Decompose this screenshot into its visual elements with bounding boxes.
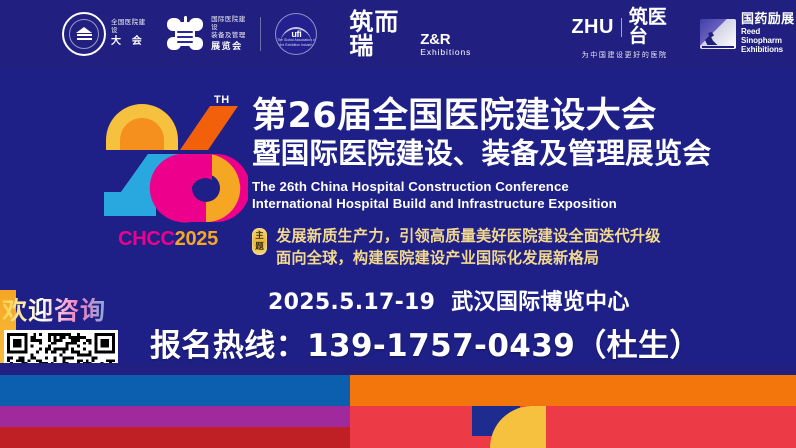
event-date: 2025.5.17-19 — [268, 290, 435, 315]
zr-chinese-name: 筑而瑞 — [349, 10, 415, 58]
band-orange — [350, 375, 796, 406]
event-venue: 武汉国际博览中心 — [451, 290, 629, 315]
logo-national-conference: 全国医院建设 大 会 — [62, 12, 146, 56]
band-blue — [0, 375, 350, 406]
logo-national-line1: 全国医院建设 — [111, 19, 146, 35]
title-english-line1: The 26th China Hospital Construction Con… — [252, 178, 712, 195]
reed-chinese-name: 国药励展 — [741, 13, 796, 28]
chcc-brand-year: 2025 — [175, 228, 218, 250]
theme-block: 主题 发展新质生产力，引领高质量美好医院建设全面迭代升级 面向全球，构建医院建设… — [252, 226, 661, 269]
zr-en-main: Z&R — [420, 32, 471, 48]
chcc-anniversary-logo: TH CHCC2025 — [88, 88, 248, 263]
zr-en-sub: Exhibitions — [420, 48, 471, 57]
ufi-circle-icon: ufi The Global Association of the Exhibi… — [275, 13, 317, 55]
header-logo-bar: 全国医院建设 大 会 国际医院建设 装备及管理 展览会 ufi — [0, 0, 796, 68]
event-date-venue: 2025.5.17-19武汉国际博览中心 — [268, 284, 630, 316]
ufi-subtext: The Global Association of the Exhibition… — [276, 38, 316, 47]
theme-line2: 面向全球，构建医院建设产业国际化发展新格局 — [276, 248, 661, 270]
title-chinese-line2: 暨国际医院建设、装备及管理展览会 — [252, 138, 712, 171]
snowflake-icon — [164, 14, 206, 54]
logo-expo-line3: 展览会 — [211, 41, 246, 52]
number-26-graphic — [88, 88, 248, 228]
logo-expo-line1: 国际医院建设 — [211, 16, 246, 32]
chcc-brand-text: CHCC2025 — [88, 228, 248, 251]
qr-welcome-text: 欢迎咨询 — [2, 298, 122, 323]
registration-hotline: 报名热线：139-1757-0439（杜生） — [150, 320, 701, 365]
chcc-brand-letters: CHCC — [118, 228, 175, 250]
title-block: 第26届全国医院建设大会 暨国际医院建设、装备及管理展览会 The 26th C… — [252, 98, 712, 212]
logo-international-expo: 国际医院建设 装备及管理 展览会 — [164, 14, 246, 54]
zhu-mark: ZHU — [571, 17, 614, 37]
zhu-chinese-name: 筑医台 — [629, 8, 678, 46]
title-chinese-line1: 第26届全国医院建设大会 — [252, 98, 712, 136]
logo-national-line2: 大 会 — [111, 36, 146, 49]
title-english-line2: International Hospital Build and Infrast… — [252, 195, 712, 212]
logo-expo-line2: 装备及管理 — [211, 32, 246, 40]
reed-en-line2: Exhibitions — [741, 46, 796, 55]
header-divider — [260, 17, 261, 51]
bottom-color-bands — [0, 363, 796, 448]
logo-reed-sinopharm: 国药励展 Reed Sinopharm Exhibitions — [700, 13, 796, 54]
theme-badge: 主题 — [252, 228, 267, 255]
band-top-navy — [0, 363, 796, 375]
logo-zhu-er-rui: 筑而瑞 Z&R Exhibitions — [349, 10, 471, 58]
anniversary-th-superscript: TH — [214, 94, 230, 106]
reed-en-line1: Reed Sinopharm — [741, 28, 796, 46]
conference-poster: 全国医院建设 大 会 国际医院建设 装备及管理 展览会 ufi — [0, 0, 796, 448]
theme-line1: 发展新质生产力，引领高质量美好医院建设全面迭代升级 — [276, 226, 661, 248]
zhu-tagline: 为中国建设更好的医院 — [571, 50, 678, 60]
reed-sinopharm-icon — [700, 19, 736, 49]
building-seal-icon — [62, 12, 106, 56]
logo-zhu-yi-tai: ZHU 筑医台 为中国建设更好的医院 — [571, 8, 678, 60]
